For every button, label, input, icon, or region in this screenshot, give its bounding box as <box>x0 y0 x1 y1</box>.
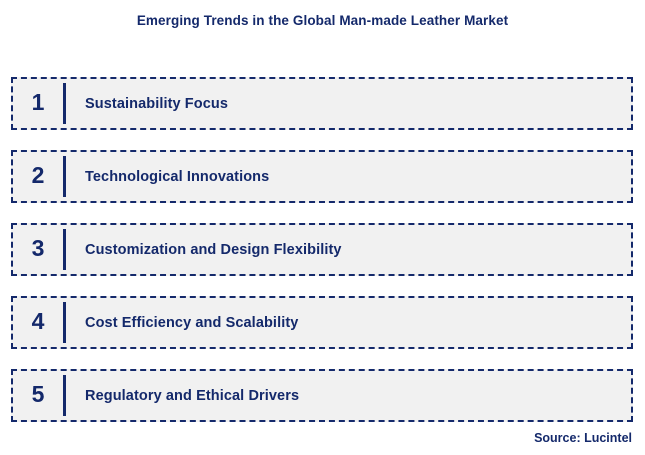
trend-label: Sustainability Focus <box>66 96 631 112</box>
list-item: 2 Technological Innovations <box>11 150 633 203</box>
trend-list: 1 Sustainability Focus 2 Technological I… <box>11 77 633 422</box>
list-item: 1 Sustainability Focus <box>11 77 633 130</box>
trend-rank-number: 1 <box>13 91 63 116</box>
trend-rank-number: 4 <box>13 310 63 335</box>
trend-label: Regulatory and Ethical Drivers <box>66 388 631 404</box>
source-attribution: Source: Lucintel <box>534 431 632 445</box>
page-title: Emerging Trends in the Global Man-made L… <box>0 13 645 28</box>
list-item: 3 Customization and Design Flexibility <box>11 223 633 276</box>
trends-infographic: Emerging Trends in the Global Man-made L… <box>0 0 645 455</box>
trend-label: Customization and Design Flexibility <box>66 242 631 258</box>
trend-rank-number: 2 <box>13 164 63 189</box>
trend-label: Cost Efficiency and Scalability <box>66 315 631 331</box>
trend-label: Technological Innovations <box>66 169 631 185</box>
trend-rank-number: 3 <box>13 237 63 262</box>
list-item: 5 Regulatory and Ethical Drivers <box>11 369 633 422</box>
list-item: 4 Cost Efficiency and Scalability <box>11 296 633 349</box>
trend-rank-number: 5 <box>13 383 63 408</box>
